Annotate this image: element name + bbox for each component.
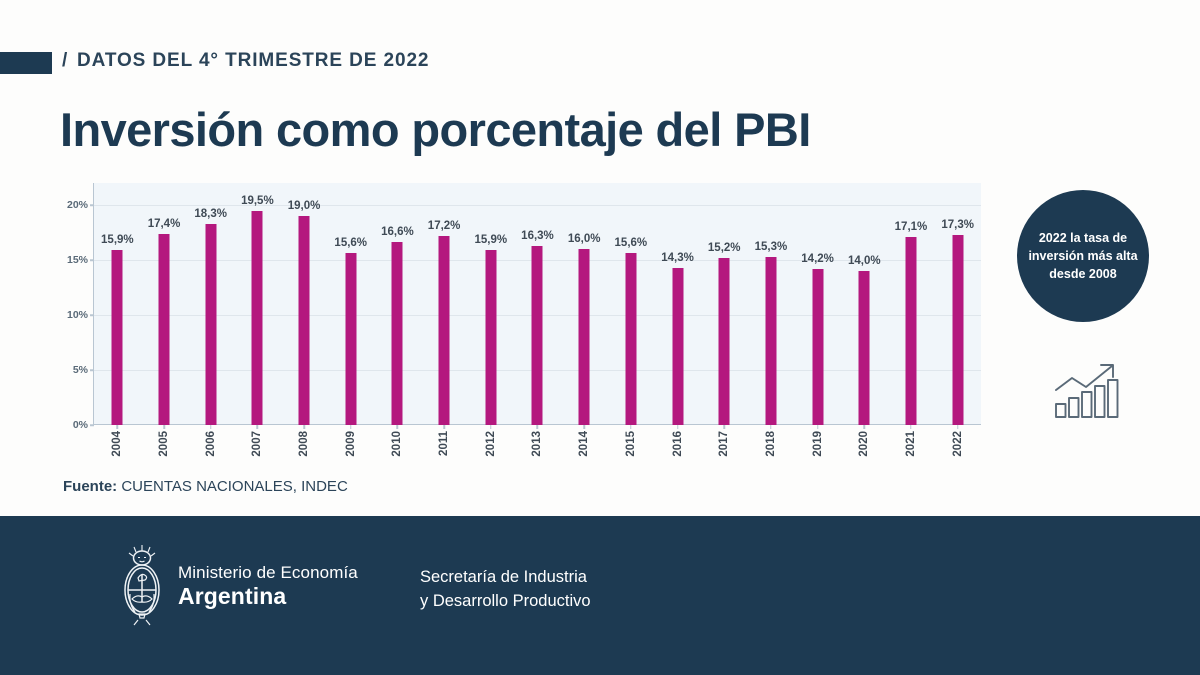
x-axis-tick-label: 2016 [672, 431, 684, 457]
x-axis-tick-mark [770, 425, 772, 429]
bar-group: 19,0%2008 [281, 183, 328, 425]
bar [812, 269, 823, 425]
bar-value-label: 17,4% [148, 218, 181, 230]
kicker-slash: / [62, 50, 68, 72]
x-axis-tick-mark [677, 425, 679, 429]
bar [159, 234, 170, 425]
ministry-block: Ministerio de Economía Argentina [178, 562, 358, 611]
x-axis-tick-label: 2007 [251, 431, 263, 457]
bar-group: 16,6%2010 [374, 183, 421, 425]
bar [112, 250, 123, 425]
x-axis-tick-mark [537, 425, 539, 429]
x-axis-tick-label: 2018 [765, 431, 777, 457]
bar [719, 258, 730, 425]
callout-badge: 2022 la tasa de inversión más alta desde… [1017, 190, 1149, 322]
bar [299, 216, 310, 425]
x-axis-tick-label: 2009 [345, 431, 357, 457]
chart: 0%5%10%15%20%15,9%200417,4%200518,3%2006… [60, 183, 980, 470]
x-axis-tick-mark [350, 425, 352, 429]
bar-group: 14,2%2019 [794, 183, 841, 425]
plot-area: 0%5%10%15%20%15,9%200417,4%200518,3%2006… [93, 183, 981, 425]
x-axis-tick-mark [210, 425, 212, 429]
bar-group: 17,4%2005 [141, 183, 188, 425]
bar-value-label: 16,6% [381, 226, 414, 238]
y-axis-tick-label: 15% [67, 254, 88, 266]
x-axis-tick-mark [490, 425, 492, 429]
bar [205, 224, 216, 425]
bar [579, 249, 590, 425]
y-axis-tick-label: 20% [67, 199, 88, 211]
y-axis-tick-label: 5% [73, 364, 88, 376]
x-axis-tick-mark [817, 425, 819, 429]
source-note: Fuente: CUENTAS NACIONALES, INDEC [63, 478, 348, 495]
bar [252, 211, 263, 426]
x-axis-tick-label: 2022 [952, 431, 964, 457]
x-axis-tick-label: 2012 [485, 431, 497, 457]
bar-group: 15,2%2017 [701, 183, 748, 425]
x-axis-tick-label: 2015 [625, 431, 637, 457]
x-axis-tick-mark [117, 425, 119, 429]
x-axis-tick-mark [723, 425, 725, 429]
bar-group: 15,9%2012 [467, 183, 514, 425]
x-axis-tick-mark [397, 425, 399, 429]
kicker-accent-block [0, 52, 52, 74]
secretariat-line-2: y Desarrollo Productivo [420, 590, 591, 614]
bar [439, 236, 450, 425]
x-axis-tick-mark [630, 425, 632, 429]
bar [625, 253, 636, 425]
bar-group: 19,5%2007 [234, 183, 281, 425]
bar-group: 17,1%2021 [888, 183, 935, 425]
bar-group: 15,6%2015 [608, 183, 655, 425]
bar-value-label: 15,3% [755, 241, 788, 253]
x-axis-tick-label: 2014 [578, 431, 590, 457]
callout-text: 2022 la tasa de inversión más alta desde… [1025, 229, 1141, 283]
x-axis-tick-mark [163, 425, 165, 429]
x-axis-tick-label: 2017 [718, 431, 730, 457]
x-axis-tick-label: 2005 [158, 431, 170, 457]
x-axis-tick-mark [257, 425, 259, 429]
bar-value-label: 17,3% [941, 219, 974, 231]
bar-value-label: 15,6% [615, 237, 648, 249]
y-axis-tick-label: 10% [67, 309, 88, 321]
bar-value-label: 15,9% [474, 234, 507, 246]
x-axis-tick-mark [910, 425, 912, 429]
bar [859, 271, 870, 425]
bar-value-label: 15,9% [101, 234, 134, 246]
bar-group: 15,3%2018 [748, 183, 795, 425]
x-axis-tick-label: 2020 [858, 431, 870, 457]
x-axis-tick-label: 2010 [391, 431, 403, 457]
bar-value-label: 14,0% [848, 255, 881, 267]
bar-value-label: 15,2% [708, 242, 741, 254]
bar [905, 237, 916, 425]
x-axis-tick-label: 2006 [205, 431, 217, 457]
growth-bars-arrow-icon [1050, 360, 1122, 420]
bar-value-label: 17,1% [895, 221, 928, 233]
argentina-coat-of-arms-icon [118, 542, 166, 634]
bar-group: 14,0%2020 [841, 183, 888, 425]
bar [345, 253, 356, 425]
bar-value-label: 19,5% [241, 195, 274, 207]
bar-value-label: 16,3% [521, 230, 554, 242]
x-axis-tick-label: 2008 [298, 431, 310, 457]
x-axis-tick-mark [864, 425, 866, 429]
bar-group: 15,6%2009 [327, 183, 374, 425]
bar-group: 17,3%2022 [934, 183, 981, 425]
x-axis-tick-mark [583, 425, 585, 429]
bar-value-label: 19,0% [288, 200, 321, 212]
x-axis-tick-label: 2011 [438, 431, 450, 456]
bar [532, 246, 543, 425]
bar-value-label: 14,3% [661, 252, 694, 264]
x-axis-tick-label: 2019 [812, 431, 824, 457]
page-title: Inversión como porcentaje del PBI [60, 102, 811, 157]
bar-value-label: 17,2% [428, 220, 461, 232]
bar-value-label: 14,2% [801, 253, 834, 265]
bar-group: 16,0%2014 [561, 183, 608, 425]
bar-group: 16,3%2013 [514, 183, 561, 425]
x-axis-tick-mark [443, 425, 445, 429]
y-axis-tick-label: 0% [73, 419, 88, 431]
bar [765, 257, 776, 425]
x-axis-tick-mark [957, 425, 959, 429]
source-label: Fuente: [63, 478, 117, 495]
bar-value-label: 16,0% [568, 233, 601, 245]
bar-group: 18,3%2006 [187, 183, 234, 425]
bar [672, 268, 683, 425]
kicker-label: DATOS DEL 4° TRIMESTRE DE 2022 [77, 50, 429, 72]
x-axis-tick-mark [303, 425, 305, 429]
bar [392, 242, 403, 425]
bar [485, 250, 496, 425]
country-name: Argentina [178, 583, 358, 611]
bar [952, 235, 963, 425]
x-axis-tick-label: 2004 [111, 431, 123, 457]
secretariat-block: Secretaría de Industria y Desarrollo Pro… [420, 566, 591, 614]
ministry-name: Ministerio de Economía [178, 562, 358, 583]
x-axis-tick-label: 2013 [531, 431, 543, 457]
kicker-row: / DATOS DEL 4° TRIMESTRE DE 2022 [0, 50, 1200, 80]
x-axis-tick-label: 2021 [905, 431, 917, 457]
bar-value-label: 18,3% [194, 208, 227, 220]
secretariat-line-1: Secretaría de Industria [420, 566, 591, 590]
bar-group: 15,9%2004 [94, 183, 141, 425]
bar-group: 17,2%2011 [421, 183, 468, 425]
bar-value-label: 15,6% [334, 237, 367, 249]
bar-group: 14,3%2016 [654, 183, 701, 425]
source-value: CUENTAS NACIONALES, INDEC [121, 478, 347, 495]
